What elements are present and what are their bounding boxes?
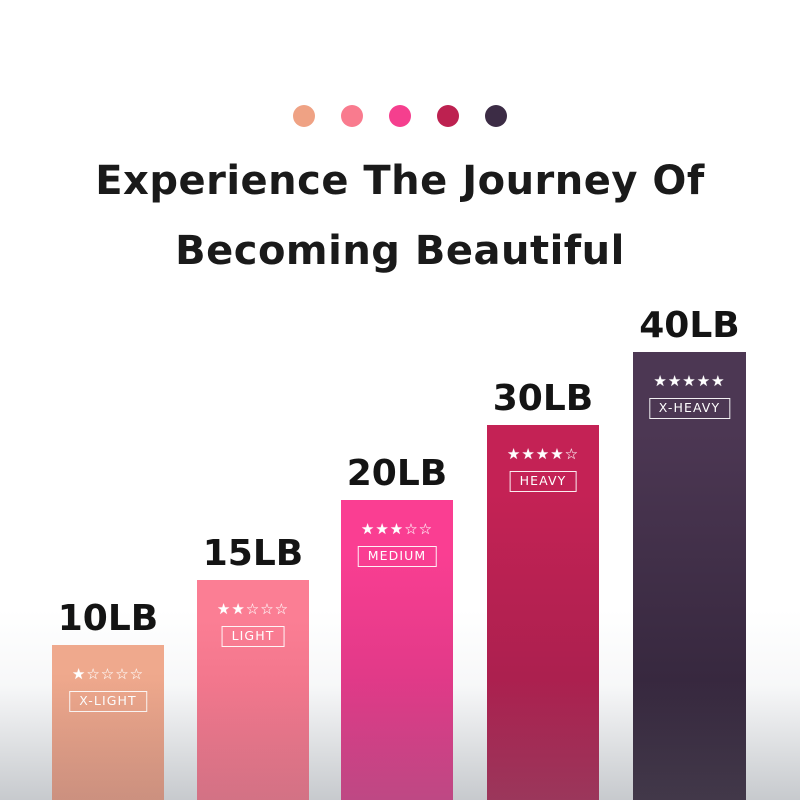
dot-heavy <box>437 105 459 127</box>
star-rating: ★★★★★ <box>633 374 746 389</box>
bar-weight-label: 40LB <box>633 308 746 344</box>
headline-line-1: Experience The Journey Of <box>0 146 800 216</box>
bar-body[interactable]: ★★★★★X-HEAVY <box>633 352 746 800</box>
dot-medium <box>389 105 411 127</box>
dot-x-light <box>293 105 315 127</box>
dot-x-heavy <box>485 105 507 127</box>
bar-column-10lb[interactable]: 10LB★☆☆☆☆X-LIGHT <box>52 593 164 800</box>
page-title: Experience The Journey Of Becoming Beaut… <box>0 146 800 286</box>
dot-light <box>341 105 363 127</box>
star-rating: ★☆☆☆☆ <box>52 667 164 682</box>
headline-line-2: Becoming Beautiful <box>0 216 800 286</box>
resistance-band-bar-chart: 10LB★☆☆☆☆X-LIGHT15LB★★☆☆☆LIGHT20LB★★★☆☆M… <box>0 330 800 800</box>
bar-body[interactable]: ★★★☆☆MEDIUM <box>341 500 453 800</box>
bar-weight-label: 15LB <box>197 536 309 572</box>
star-rating: ★★★☆☆ <box>341 522 453 537</box>
bar-column-40lb[interactable]: 40LB★★★★★X-HEAVY <box>633 300 746 800</box>
bar-column-20lb[interactable]: 20LB★★★☆☆MEDIUM <box>341 448 453 800</box>
bar-bottom-fade <box>487 680 599 800</box>
bar-column-30lb[interactable]: 30LB★★★★☆HEAVY <box>487 373 599 800</box>
resistance-level-badge: X-LIGHT <box>69 691 147 712</box>
bar-body[interactable]: ★★★★☆HEAVY <box>487 425 599 800</box>
color-swatch-row <box>0 105 800 127</box>
star-rating: ★★★★☆ <box>487 447 599 462</box>
bar-bottom-fade <box>197 680 309 800</box>
bar-bottom-fade <box>341 680 453 800</box>
bar-bottom-fade <box>633 680 746 800</box>
resistance-level-badge: LIGHT <box>222 626 285 647</box>
bar-column-15lb[interactable]: 15LB★★☆☆☆LIGHT <box>197 528 309 800</box>
bar-body[interactable]: ★★☆☆☆LIGHT <box>197 580 309 800</box>
star-rating: ★★☆☆☆ <box>197 602 309 617</box>
resistance-level-badge: X-HEAVY <box>649 398 730 419</box>
bar-weight-label: 30LB <box>487 381 599 417</box>
resistance-level-badge: MEDIUM <box>358 546 437 567</box>
bar-weight-label: 10LB <box>52 601 164 637</box>
bar-weight-label: 20LB <box>341 456 453 492</box>
product-infographic: Experience The Journey Of Becoming Beaut… <box>0 0 800 800</box>
bar-body[interactable]: ★☆☆☆☆X-LIGHT <box>52 645 164 800</box>
resistance-level-badge: HEAVY <box>510 471 577 492</box>
